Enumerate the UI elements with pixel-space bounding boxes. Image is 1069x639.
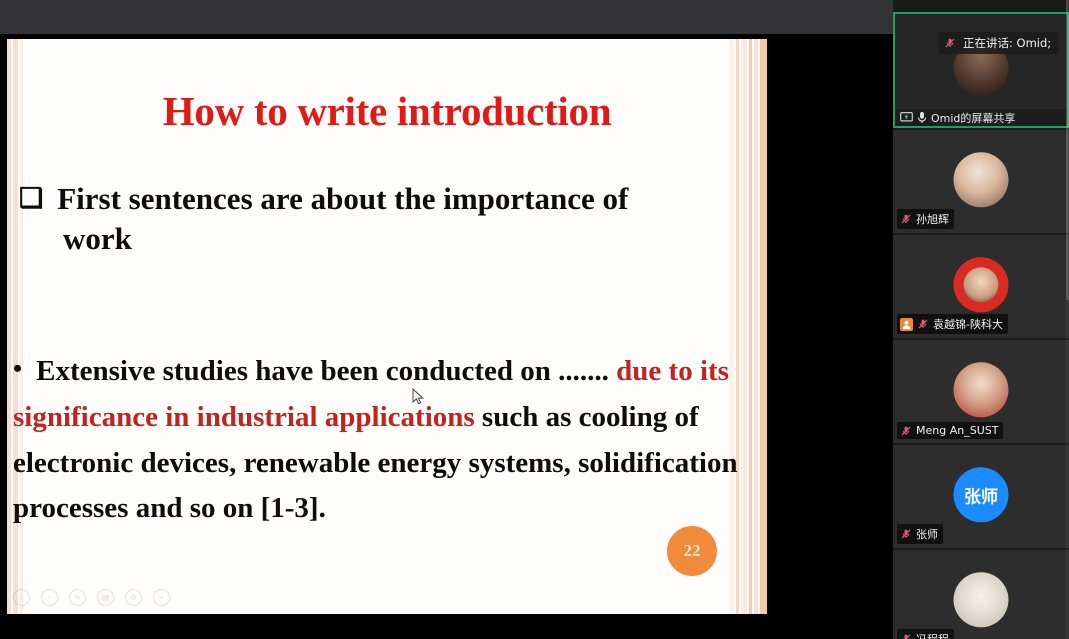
screen-share-icon <box>900 112 913 123</box>
participant-label: 袁越锦-陕科大 <box>897 314 1008 334</box>
presentation-slide-frame[interactable]: How to write introduction ❑First sentenc… <box>0 34 767 615</box>
avatar <box>954 257 1009 312</box>
square-bullet-icon: ❑ <box>19 181 43 216</box>
participant-name: 张师 <box>916 526 938 542</box>
filmstrip-top-gap <box>893 0 1069 12</box>
participant-label: 冯程程 <box>897 629 954 639</box>
zoom-icon[interactable]: ⌖ <box>153 589 170 606</box>
slide-menu-icon[interactable]: ▦ <box>97 589 114 606</box>
participant-name: 孙旭辉 <box>916 211 949 227</box>
screen-share-status-bar: Omid的屏幕共享 <box>895 109 1067 126</box>
avatar <box>954 362 1009 417</box>
slide-paragraph-item: •Extensive studies have been conducted o… <box>13 349 753 532</box>
dot-bullet-icon: • <box>13 348 22 389</box>
options-icon[interactable]: ⚙ <box>125 589 142 606</box>
avatar <box>954 572 1009 627</box>
slide-page-number: 22 <box>667 526 717 576</box>
participant-label: 张师 <box>897 524 943 544</box>
mic-muted-icon <box>917 318 929 330</box>
previous-slide-icon[interactable]: ‹ <box>13 589 30 606</box>
powerpoint-presenter-controls[interactable]: ‹ › ✎ ▦ ⚙ ⌖ <box>13 589 170 606</box>
avatar <box>954 152 1009 207</box>
bullet-line-1: First sentences are about the importance… <box>57 181 628 216</box>
mic-muted-icon <box>900 425 912 437</box>
participant-filmstrip[interactable]: 正在讲话: Omid; Omid的屏幕共享 <box>893 0 1069 639</box>
participant-tile[interactable]: 孙旭辉 <box>893 130 1069 233</box>
participant-tile[interactable]: 张师 张师 <box>893 445 1069 548</box>
paragraph-part-1: Extensive studies have been conducted on… <box>36 355 616 387</box>
slide-title: How to write introduction <box>7 87 767 135</box>
participant-name: 冯程程 <box>916 631 949 639</box>
host-badge-icon <box>900 318 913 331</box>
next-slide-icon[interactable]: › <box>41 589 58 606</box>
speaking-indicator-tooltip: 正在讲话: Omid; <box>939 32 1059 54</box>
participant-name: Meng An_SUST <box>916 424 998 437</box>
mic-icon <box>917 111 927 124</box>
pen-tool-icon[interactable]: ✎ <box>69 589 86 606</box>
mic-muted-icon <box>900 633 912 639</box>
zoom-meeting-window: How to write introduction ❑First sentenc… <box>0 0 1069 639</box>
share-top-bar <box>0 0 893 34</box>
speaking-text: 正在讲话: Omid; <box>963 35 1051 51</box>
powerpoint-slide[interactable]: How to write introduction ❑First sentenc… <box>7 39 767 614</box>
mic-muted-icon <box>900 213 912 225</box>
participant-tile[interactable]: Meng An_SUST <box>893 340 1069 443</box>
participant-tile[interactable]: 冯程程 <box>893 550 1069 639</box>
screen-share-label: Omid的屏幕共享 <box>931 110 1015 126</box>
slide-bullet-item: ❑First sentences are about the importanc… <box>19 179 749 260</box>
participant-label: 孙旭辉 <box>897 209 954 229</box>
participant-tile[interactable]: 袁越锦-陕科大 <box>893 235 1069 338</box>
avatar-initials: 张师 <box>954 467 1009 522</box>
participant-label: Meng An_SUST <box>897 422 1003 439</box>
participant-tile-active-speaker[interactable]: 正在讲话: Omid; Omid的屏幕共享 <box>893 12 1069 128</box>
bullet-line-2: work <box>63 219 749 259</box>
mouse-cursor <box>412 388 425 406</box>
mic-muted-icon <box>944 37 956 49</box>
participant-name: 袁越锦-陕科大 <box>933 316 1003 332</box>
shared-screen-area[interactable]: How to write introduction ❑First sentenc… <box>0 0 893 639</box>
mic-muted-icon <box>900 528 912 540</box>
